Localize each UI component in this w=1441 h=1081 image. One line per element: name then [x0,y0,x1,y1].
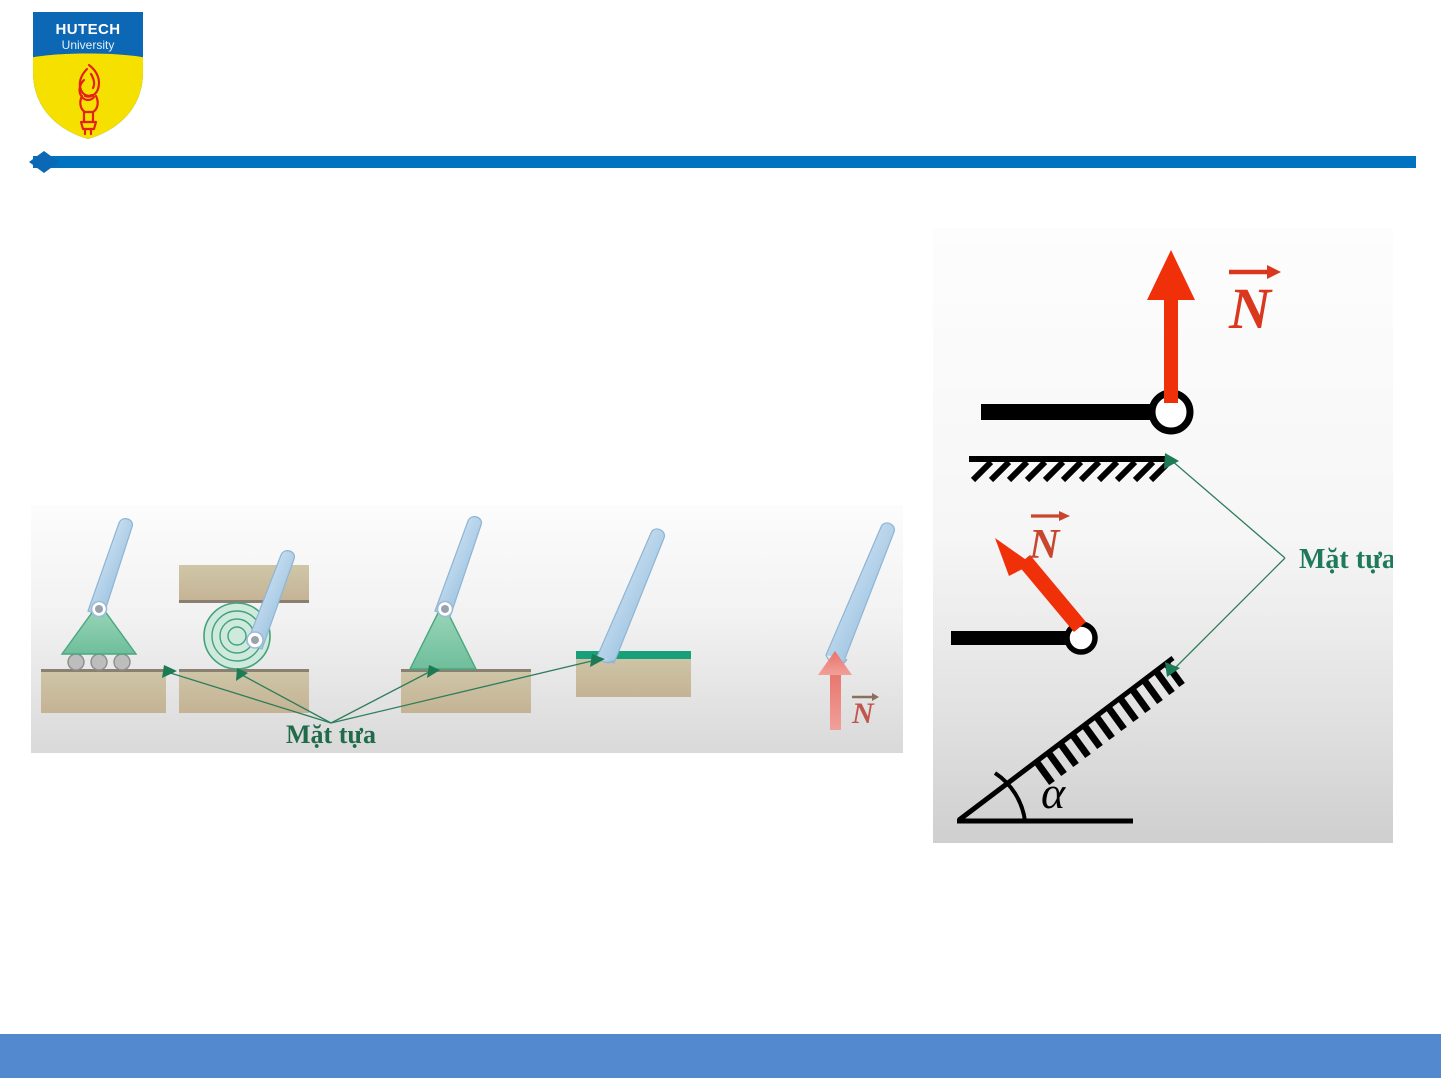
logo-text-university: University [62,38,115,52]
horizontal-bar [981,404,1161,420]
hutech-university-shield-logo: HUTECH University [27,8,149,142]
svg-text:N: N [1228,276,1273,341]
logo-text-hutech: HUTECH [56,21,121,38]
inclined-bar [951,631,1071,645]
header-diamond-marker [29,151,59,173]
angle-label-alpha: α [1041,767,1066,818]
figure-normal-reaction-flat-and-inclined: N [933,228,1393,843]
header-rule-line [33,156,1416,168]
figure-right-caption: Mặt tựa [1299,544,1393,575]
slide-canvas: HUTECH University [0,0,1441,1081]
figure-right-background [933,228,1393,843]
header-rule [0,148,1441,176]
figure-left-caption: Mặt tựa [286,720,376,749]
svg-text:N: N [1028,522,1061,568]
figure-supports-and-normal-force-examples: N Mặt tựa [31,505,903,753]
svg-text:N: N [851,697,875,730]
footer-bar [0,1034,1441,1078]
